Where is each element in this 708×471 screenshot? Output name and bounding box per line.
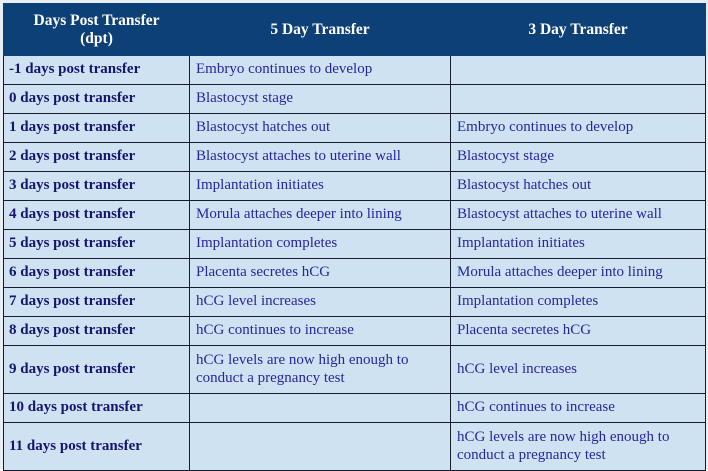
column-header-days-post-transfer: Days Post Transfer (dpt) bbox=[4, 4, 190, 56]
cell-day: 6 days post transfer bbox=[4, 259, 190, 288]
cell-five-day: hCG level increases bbox=[190, 288, 451, 317]
table-header: Days Post Transfer (dpt) 5 Day Transfer … bbox=[4, 4, 706, 56]
cell-day: 2 days post transfer bbox=[4, 143, 190, 172]
embryo-transfer-timeline-table: Days Post Transfer (dpt) 5 Day Transfer … bbox=[3, 3, 706, 471]
table-row: 6 days post transfer Placenta secretes h… bbox=[4, 259, 706, 288]
table-row: 10 days post transfer hCG continues to i… bbox=[4, 394, 706, 423]
cell-three-day: hCG level increases bbox=[451, 346, 706, 394]
table-row: 11 days post transfer hCG levels are now… bbox=[4, 423, 706, 471]
header-days-line1: Days Post Transfer bbox=[34, 12, 160, 29]
cell-day: 9 days post transfer bbox=[4, 346, 190, 394]
cell-three-day: hCG continues to increase bbox=[451, 394, 706, 423]
cell-three-day: hCG levels are now high enough to conduc… bbox=[451, 423, 706, 471]
table-row: 5 days post transfer Implantation comple… bbox=[4, 230, 706, 259]
table-row: 2 days post transfer Blastocyst attaches… bbox=[4, 143, 706, 172]
cell-five-day: Implantation completes bbox=[190, 230, 451, 259]
cell-five-day bbox=[190, 394, 451, 423]
cell-day: 5 days post transfer bbox=[4, 230, 190, 259]
table-row: -1 days post transfer Embryo continues t… bbox=[4, 56, 706, 85]
cell-three-day: Implantation completes bbox=[451, 288, 706, 317]
cell-day: 10 days post transfer bbox=[4, 394, 190, 423]
cell-day: 1 days post transfer bbox=[4, 114, 190, 143]
cell-day: 11 days post transfer bbox=[4, 423, 190, 471]
cell-five-day bbox=[190, 423, 451, 471]
cell-five-day: Morula attaches deeper into lining bbox=[190, 201, 451, 230]
cell-three-day bbox=[451, 85, 706, 114]
table-body: -1 days post transfer Embryo continues t… bbox=[4, 56, 706, 471]
table-row: 4 days post transfer Morula attaches dee… bbox=[4, 201, 706, 230]
cell-three-day: Blastocyst hatches out bbox=[451, 172, 706, 201]
table-row: 8 days post transfer hCG continues to in… bbox=[4, 317, 706, 346]
column-header-3-day-transfer: 3 Day Transfer bbox=[451, 4, 706, 56]
cell-day: 8 days post transfer bbox=[4, 317, 190, 346]
cell-three-day: Morula attaches deeper into lining bbox=[451, 259, 706, 288]
cell-three-day: Implantation initiates bbox=[451, 230, 706, 259]
cell-three-day: Blastocyst stage bbox=[451, 143, 706, 172]
cell-five-day: Blastocyst attaches to uterine wall bbox=[190, 143, 451, 172]
header-row: Days Post Transfer (dpt) 5 Day Transfer … bbox=[4, 4, 706, 56]
cell-five-day: Placenta secretes hCG bbox=[190, 259, 451, 288]
cell-three-day: Placenta secretes hCG bbox=[451, 317, 706, 346]
table-row: 1 days post transfer Blastocyst hatches … bbox=[4, 114, 706, 143]
cell-five-day: Blastocyst hatches out bbox=[190, 114, 451, 143]
cell-day: -1 days post transfer bbox=[4, 56, 190, 85]
cell-five-day: Blastocyst stage bbox=[190, 85, 451, 114]
cell-day: 0 days post transfer bbox=[4, 85, 190, 114]
cell-five-day: hCG continues to increase bbox=[190, 317, 451, 346]
cell-five-day: hCG levels are now high enough to conduc… bbox=[190, 346, 451, 394]
table-row: 3 days post transfer Implantation initia… bbox=[4, 172, 706, 201]
cell-three-day: Embryo continues to develop bbox=[451, 114, 706, 143]
table-frame: Days Post Transfer (dpt) 5 Day Transfer … bbox=[0, 0, 708, 469]
cell-three-day: Blastocyst attaches to uterine wall bbox=[451, 201, 706, 230]
table-row: 7 days post transfer hCG level increases… bbox=[4, 288, 706, 317]
header-days-line2: (dpt) bbox=[80, 30, 113, 47]
cell-day: 4 days post transfer bbox=[4, 201, 190, 230]
cell-five-day: Implantation initiates bbox=[190, 172, 451, 201]
column-header-5-day-transfer: 5 Day Transfer bbox=[190, 4, 451, 56]
table-row: 0 days post transfer Blastocyst stage bbox=[4, 85, 706, 114]
table-row: 9 days post transfer hCG levels are now … bbox=[4, 346, 706, 394]
cell-five-day: Embryo continues to develop bbox=[190, 56, 451, 85]
cell-day: 7 days post transfer bbox=[4, 288, 190, 317]
cell-day: 3 days post transfer bbox=[4, 172, 190, 201]
cell-three-day bbox=[451, 56, 706, 85]
